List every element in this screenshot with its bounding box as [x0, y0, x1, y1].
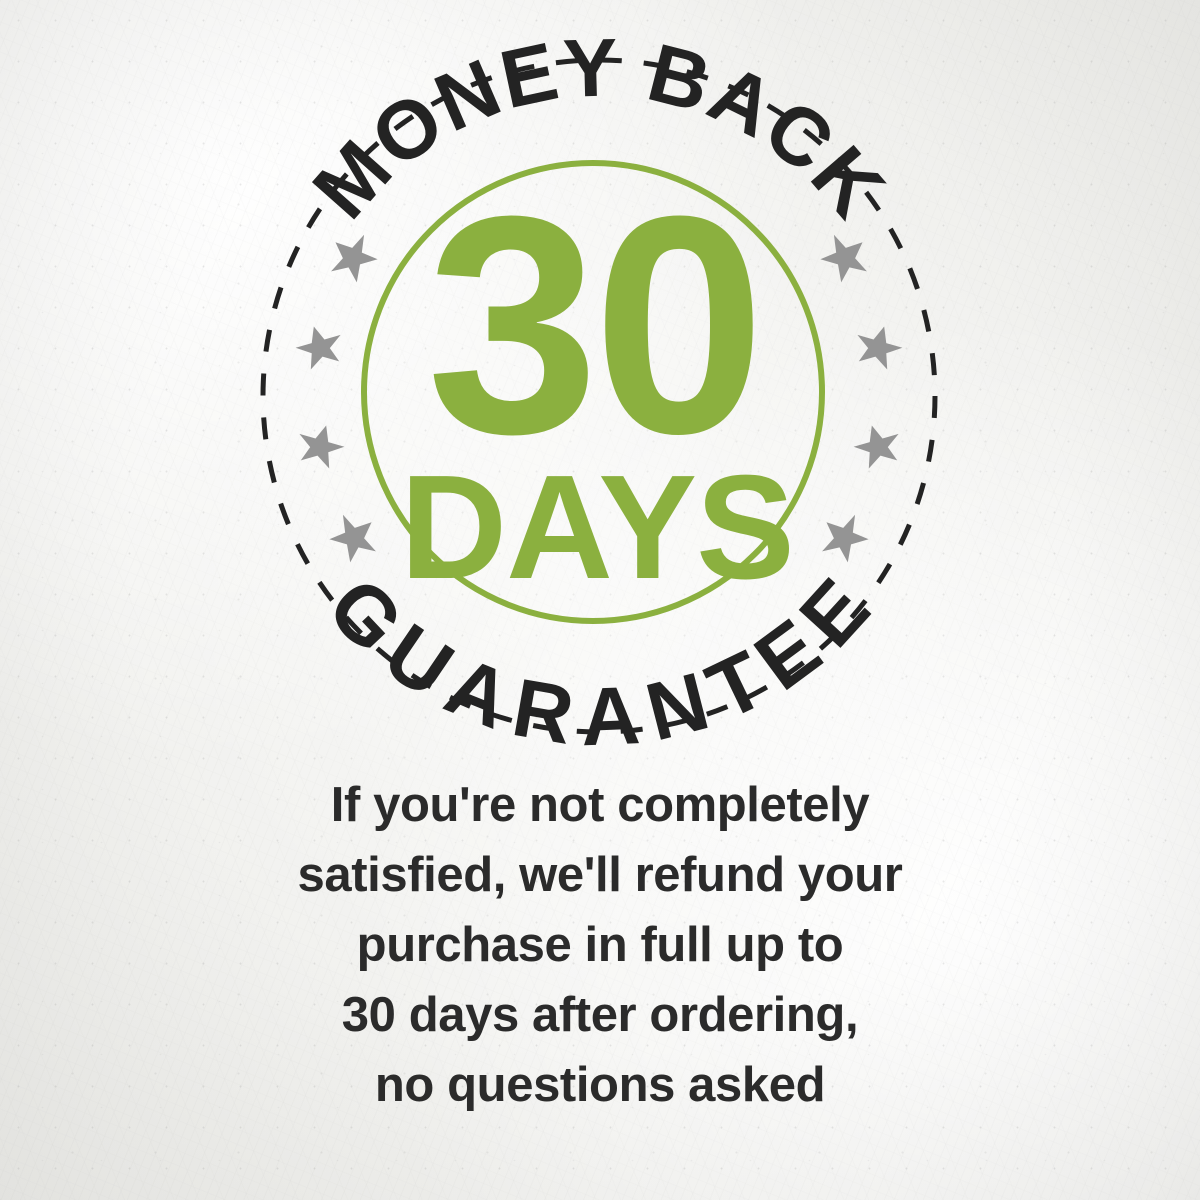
promise-line-3: purchase in full up to: [0, 910, 1200, 980]
money-back-guarantee-seal: MONEY BACK GUARANTEE 30 DAYS: [0, 0, 1200, 790]
promise-line-5: no questions asked: [0, 1050, 1200, 1120]
guarantee-promise-text: If you're not completely satisfied, we'l…: [0, 770, 1200, 1120]
star-icon: [849, 419, 905, 471]
star-icon: [291, 320, 347, 372]
star-icon: [292, 419, 348, 471]
promise-line-4: 30 days after ordering,: [0, 980, 1200, 1050]
guarantee-graphic: MONEY BACK GUARANTEE 30 DAYS If you're n…: [0, 0, 1200, 1200]
star-icon: [810, 504, 875, 569]
star-icon: [319, 224, 384, 289]
promise-line-2: satisfied, we'll refund your: [0, 840, 1200, 910]
star-icon: [814, 224, 879, 289]
star-icon: [850, 320, 906, 372]
badge-unit: DAYS: [400, 445, 794, 610]
star-icon: [323, 504, 388, 569]
promise-line-1: If you're not completely: [0, 770, 1200, 840]
